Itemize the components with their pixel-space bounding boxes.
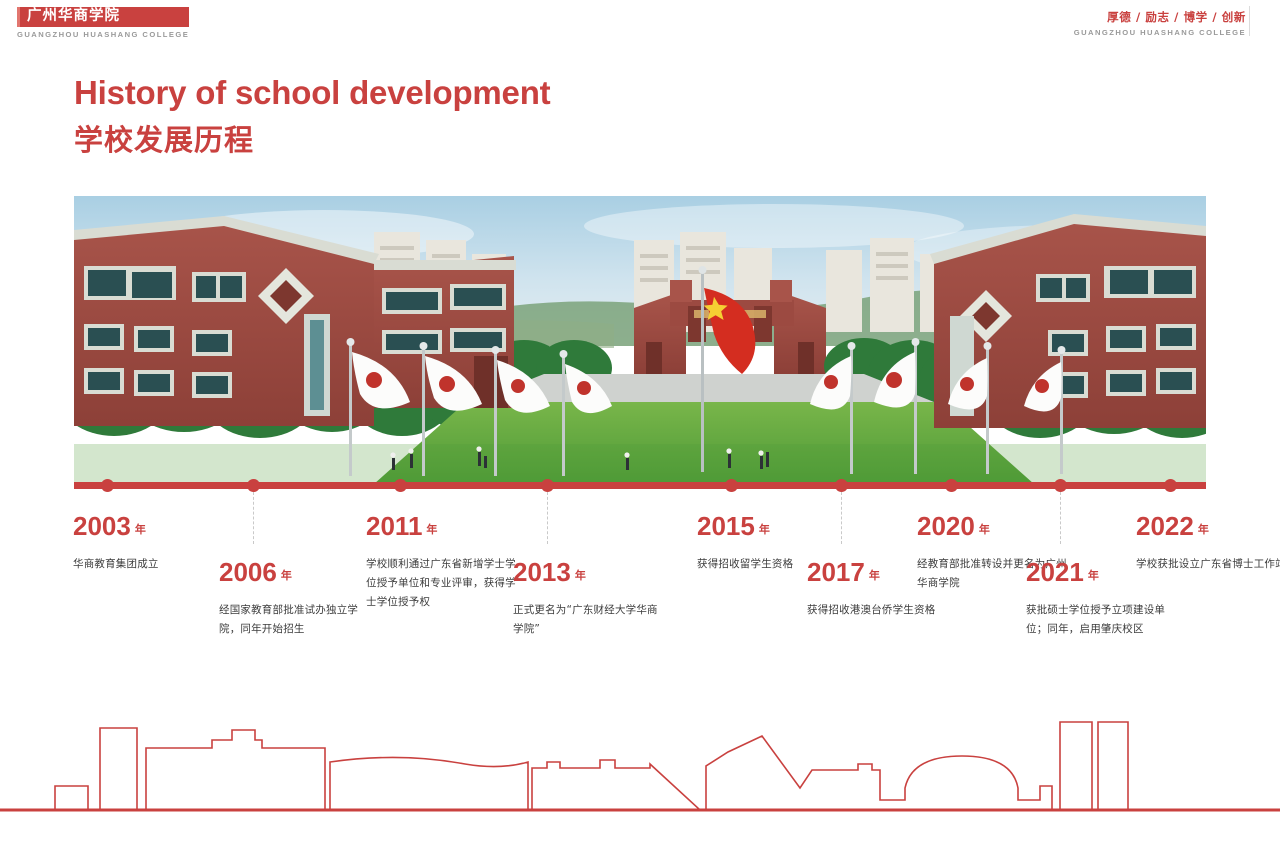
timeline-entry-2011[interactable]: 2011年学校顺利通过广东省新增学士学位授予单位和专业评审，获得学士学位授予权 [366,511,516,612]
timeline-year-number: 2011 [366,511,422,541]
timeline-year-2003: 2003年 [73,511,223,545]
timeline-desc-2017: 获得招收港澳台侨学生资格 [807,601,957,620]
timeline-year-suffix: 年 [869,569,880,582]
timeline-year-number: 2003 [73,511,131,541]
timeline-bar [74,482,1206,489]
timeline-desc-2006: 经国家教育部批准试办独立学院，同年开始招生 [219,601,369,639]
timeline-year-suffix: 年 [759,523,770,536]
slide-page: 广州华商学院 GUANGZHOU HUASHANG COLLEGE 厚德 / 励… [0,0,1280,868]
header-divider [1249,6,1250,36]
timeline-year-2006: 2006年 [219,557,369,591]
timeline-year-suffix: 年 [135,523,146,536]
school-logo: 广州华商学院 GUANGZHOU HUASHANG COLLEGE [17,7,189,39]
skyline-footer [0,700,1280,818]
timeline-year-suffix: 年 [1088,569,1099,582]
timeline-dot-2006[interactable] [247,479,260,492]
timeline-year-suffix: 年 [575,569,586,582]
timeline-year-2020: 2020年 [917,511,1067,545]
timeline-dot-2021[interactable] [1054,479,1067,492]
timeline-year-number: 2021 [1026,557,1084,587]
timeline-dot-2017[interactable] [835,479,848,492]
city-skyline-icon [0,700,1280,818]
timeline-dot-2020[interactable] [945,479,958,492]
page-title-chinese: 学校发展历程 [74,118,550,162]
timeline-year-number: 2017 [807,557,865,587]
timeline-year-suffix: 年 [1198,523,1209,536]
logo-badge-cn: 广州华商学院 [17,7,189,27]
timeline-dot-2015[interactable] [725,479,738,492]
page-header: 广州华商学院 GUANGZHOU HUASHANG COLLEGE 厚德 / 励… [0,0,1280,46]
timeline-year-suffix: 年 [426,523,437,536]
timeline-entry-2013[interactable]: 2013年正式更名为“广东财经大学华商学院” [513,557,663,639]
timeline-year-2011: 2011年 [366,511,516,545]
school-motto: 厚德 / 励志 / 博学 / 创新 GUANGZHOU HUASHANG COL… [1074,9,1246,37]
timeline-year-2015: 2015年 [697,511,847,545]
timeline-year-number: 2022 [1136,511,1194,541]
motto-label-cn: 厚德 / 励志 / 博学 / 创新 [1074,9,1246,25]
logo-label-en: GUANGZHOU HUASHANG COLLEGE [17,30,189,39]
timeline-desc-2011: 学校顺利通过广东省新增学士学位授予单位和专业评审，获得学士学位授予权 [366,555,516,612]
timeline-entry-2003[interactable]: 2003年华商教育集团成立 [73,511,223,574]
timeline-entry-2022[interactable]: 2022年学校获批设立广东省博士工作站 [1136,511,1280,574]
campus-photo [74,196,1206,484]
timeline-dot-2022[interactable] [1164,479,1177,492]
timeline-year-suffix: 年 [281,569,292,582]
timeline-year-number: 2015 [697,511,755,541]
timeline-connector-2013 [547,492,548,544]
timeline-year-2022: 2022年 [1136,511,1280,545]
timeline-desc-2022: 学校获批设立广东省博士工作站 [1136,555,1280,574]
timeline-year-number: 2006 [219,557,277,587]
page-title-english: History of school development [74,72,550,114]
timeline-year-number: 2013 [513,557,571,587]
timeline-dot-2011[interactable] [394,479,407,492]
timeline-year-suffix: 年 [979,523,990,536]
timeline-dot-2003[interactable] [101,479,114,492]
timeline-desc-2021: 获批硕士学位授予立项建设单位；同年，启用肇庆校区 [1026,601,1176,639]
timeline-dot-2013[interactable] [541,479,554,492]
timeline-desc-2003: 华商教育集团成立 [73,555,223,574]
timeline-year-2013: 2013年 [513,557,663,591]
timeline-desc-2013: 正式更名为“广东财经大学华商学院” [513,601,663,639]
motto-label-en: GUANGZHOU HUASHANG COLLEGE [1074,28,1246,37]
page-title: History of school development 学校发展历程 [74,72,550,162]
timeline-entry-2006[interactable]: 2006年经国家教育部批准试办独立学院，同年开始招生 [219,557,369,639]
timeline-year-number: 2020 [917,511,975,541]
timeline-connector-2006 [253,492,254,544]
campus-photo-illustration [74,196,1206,484]
